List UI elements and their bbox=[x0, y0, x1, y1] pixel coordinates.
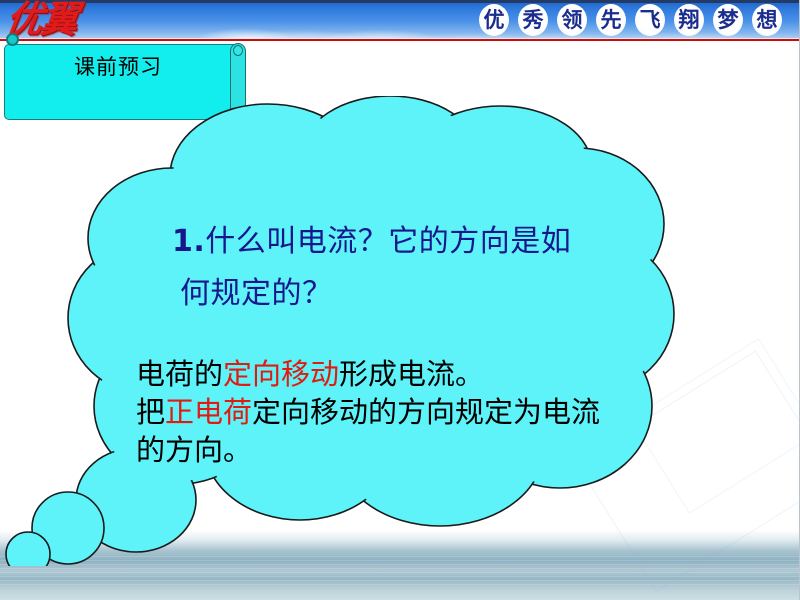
answer-highlight-directional-motion: 定向移动 bbox=[223, 357, 339, 391]
slogan-group: 优 秀 领 先 飞 翔 梦 想 bbox=[479, 3, 782, 37]
scroll-curl-left-icon bbox=[6, 33, 19, 46]
answer-line-2-suffix: 定向移动的方向规定为电流 bbox=[252, 395, 600, 429]
slogan-char-1: 优 bbox=[479, 4, 509, 36]
scroll-roll-right-cap-icon bbox=[233, 45, 243, 56]
answer-highlight-positive-charge: 正电荷 bbox=[165, 395, 252, 429]
slogan-char-5: 飞 bbox=[635, 4, 665, 36]
slide-canvas: 优翼 优 秀 领 先 飞 翔 梦 想 课前预习 bbox=[0, 0, 800, 600]
answer-line-1: 电荷的定向移动形成电流。 bbox=[136, 351, 484, 393]
section-title-text: 课前预习 bbox=[5, 51, 231, 81]
header-red-rule bbox=[0, 38, 800, 41]
answer-line-3: 的方向。 bbox=[136, 427, 252, 469]
slogan-char-4: 先 bbox=[596, 4, 626, 36]
question-line-2: 何规定的？ bbox=[180, 268, 333, 312]
slogan-char-2: 秀 bbox=[518, 4, 548, 36]
slogan-char-6: 翔 bbox=[674, 4, 704, 36]
brand-logo: 优翼 bbox=[3, 0, 139, 41]
thought-cloud-svg bbox=[0, 96, 800, 566]
question-line-1-text: 什么叫电流？它的方向是如 bbox=[205, 224, 571, 259]
answer-line-2: 把正电荷定向移动的方向规定为电流 bbox=[136, 389, 600, 431]
answer-line-1-prefix: 电荷的 bbox=[136, 357, 223, 391]
slogan-char-7: 梦 bbox=[713, 4, 743, 36]
slogan-char-3: 领 bbox=[557, 4, 587, 36]
question-number: 1. bbox=[172, 224, 205, 259]
slogan-char-8: 想 bbox=[752, 4, 782, 36]
answer-line-2-prefix: 把 bbox=[136, 395, 165, 429]
thought-cloud-shape bbox=[0, 96, 800, 566]
header-banner: 优翼 优 秀 领 先 飞 翔 梦 想 bbox=[0, 0, 800, 41]
answer-line-1-suffix: 形成电流。 bbox=[339, 357, 484, 391]
question-line-1: 1.什么叫电流？它的方向是如 bbox=[172, 216, 571, 260]
